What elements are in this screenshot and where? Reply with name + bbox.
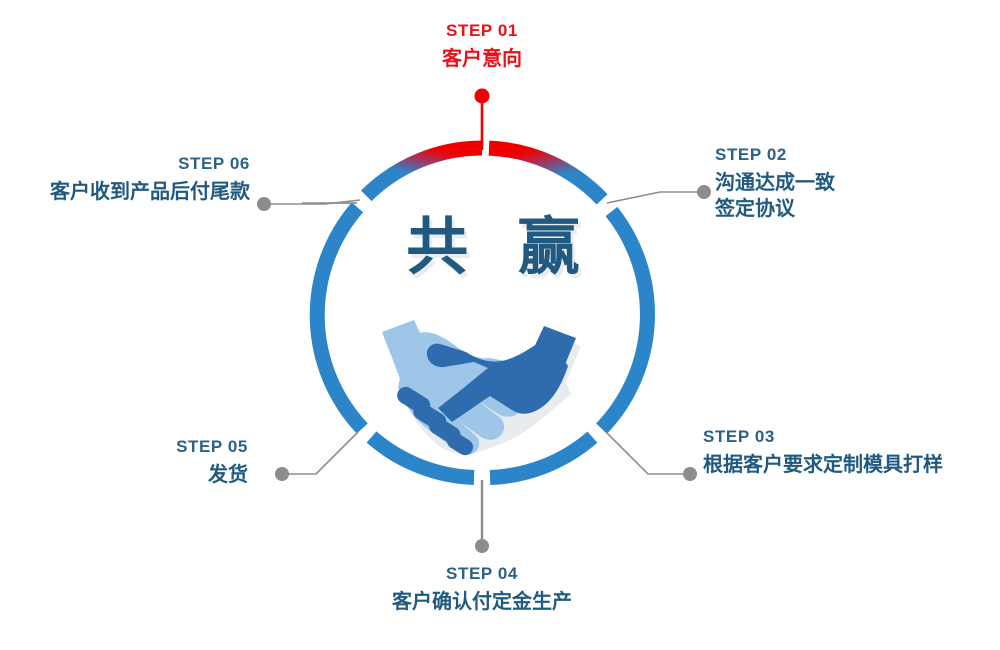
step-label-06: STEP 06 bbox=[10, 155, 250, 174]
step-title-03: 根据客户要求定制模具打样 bbox=[703, 452, 1000, 478]
step-block-04[interactable]: STEP 04 客户确认付定金生产 bbox=[332, 565, 632, 615]
step-title-05: 发货 bbox=[58, 462, 248, 488]
step-title-06: 客户收到产品后付尾款 bbox=[10, 179, 250, 205]
step-title-02-line2: 签定协议 bbox=[715, 196, 975, 222]
infographic-canvas: 共 赢 bbox=[0, 0, 1000, 650]
step-block-01[interactable]: STEP 01 客户意向 bbox=[382, 22, 582, 72]
step-title-04: 客户确认付定金生产 bbox=[332, 589, 632, 615]
step-title-02-line1: 沟通达成一致 bbox=[715, 170, 975, 196]
step-block-06[interactable]: STEP 06 客户收到产品后付尾款 bbox=[10, 155, 250, 205]
step-title-01: 客户意向 bbox=[382, 46, 582, 72]
step-label-05: STEP 05 bbox=[58, 438, 248, 457]
step-block-03[interactable]: STEP 03 根据客户要求定制模具打样 bbox=[703, 428, 1000, 478]
handshake-icon bbox=[0, 0, 1000, 650]
step-label-01: STEP 01 bbox=[382, 22, 582, 41]
step-label-04: STEP 04 bbox=[332, 565, 632, 584]
step-label-03: STEP 03 bbox=[703, 428, 1000, 447]
step-label-02: STEP 02 bbox=[715, 146, 975, 165]
step-block-02[interactable]: STEP 02 沟通达成一致 签定协议 bbox=[715, 146, 975, 222]
step-block-05[interactable]: STEP 05 发货 bbox=[58, 438, 248, 488]
